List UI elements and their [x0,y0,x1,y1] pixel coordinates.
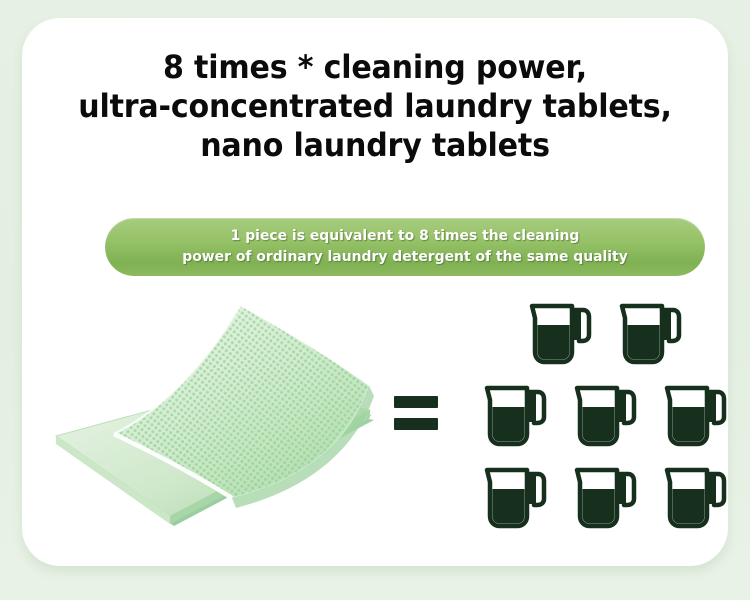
measuring-cup-icon [481,460,553,534]
measuring-cup-icon [526,296,598,370]
measuring-cup-icon [661,460,733,534]
page-title: 8 times * cleaning power, ultra-concentr… [43,48,707,165]
page-background: 8 times * cleaning power, ultra-concentr… [0,0,750,600]
equals-bar-top [394,396,438,408]
equivalence-banner-text: 1 piece is equivalent to 8 times the cle… [169,226,641,268]
measuring-cup-grid [464,296,750,558]
laundry-sheet-stack-icon [44,300,384,550]
equals-bar-bottom [394,418,438,430]
banner-line-1: 1 piece is equivalent to 8 times the cle… [182,226,628,247]
measuring-cup-icon [616,296,688,370]
product-card: 8 times * cleaning power, ultra-concentr… [22,18,728,566]
equivalence-banner: 1 piece is equivalent to 8 times the cle… [105,218,705,276]
measuring-cup-icon [481,378,553,452]
measuring-cup-icon [571,460,643,534]
measuring-cup-row-3 [464,460,750,534]
comparison-illustration [44,296,750,566]
equals-sign-icon [386,384,448,442]
headline-line-3: nano laundry tablets [43,126,707,165]
measuring-cup-row-1 [464,296,750,370]
measuring-cup-row-2 [464,378,750,452]
headline-line-1: 8 times * cleaning power, [43,48,707,87]
banner-line-2: power of ordinary laundry detergent of t… [182,247,628,268]
headline-line-2: ultra-concentrated laundry tablets, [43,87,707,126]
measuring-cup-icon [661,378,733,452]
measuring-cup-icon [571,378,643,452]
